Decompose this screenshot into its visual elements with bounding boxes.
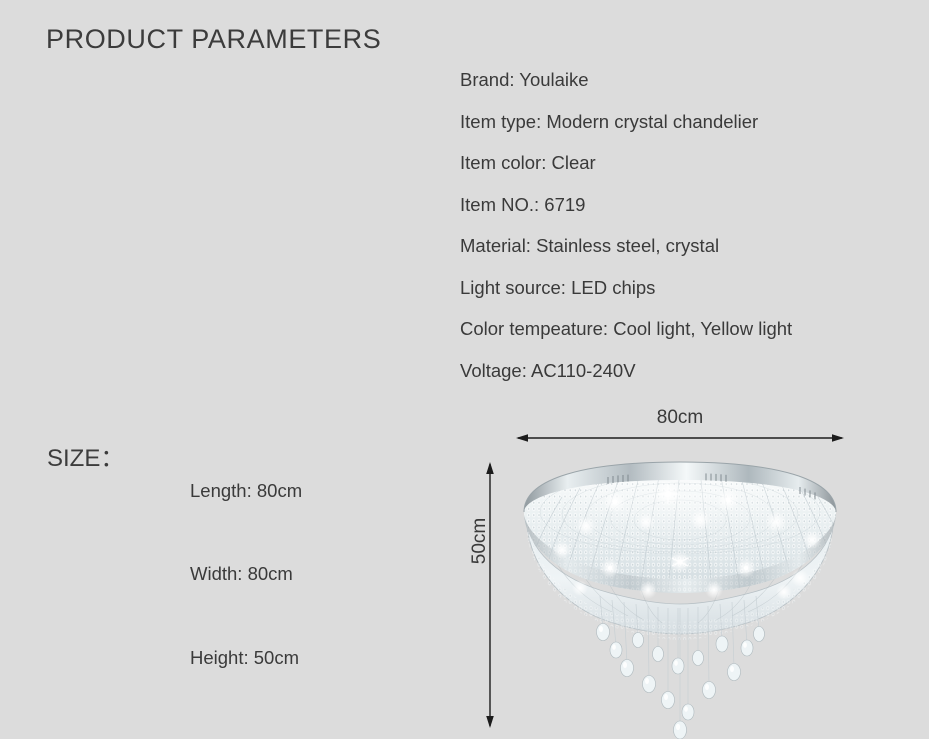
page-title: PRODUCT PARAMETERS [46,24,381,55]
specification-list: Brand: Youlaike Item type: Modern crysta… [460,68,910,400]
spec-light-source: Light source: LED chips [460,276,910,318]
spec-brand: Brand: Youlaike [460,68,910,110]
spec-voltage: Voltage: AC110-240V [460,359,910,401]
spec-item-no: Item NO.: 6719 [460,193,910,235]
size-height: Height: 50cm [190,647,299,669]
size-heading: SIZE： [47,438,124,473]
spec-item-type: Item type: Modern crystal chandelier [460,110,910,152]
dimension-width-label: 80cm [516,407,844,429]
spec-material: Material: Stainless steel, crystal [460,234,910,276]
size-width: Width: 80cm [190,563,293,585]
product-image-chandelier [500,450,860,739]
dimension-width-arrow-icon [514,428,846,448]
size-length: Length: 80cm [190,480,302,502]
spec-item-color: Item color: Clear [460,151,910,193]
product-parameters-page: PRODUCT PARAMETERS Brand: Youlaike Item … [0,0,929,739]
dimension-height-arrow-icon [480,460,500,730]
spec-color-temperature: Color tempeature: Cool light, Yellow lig… [460,317,910,359]
